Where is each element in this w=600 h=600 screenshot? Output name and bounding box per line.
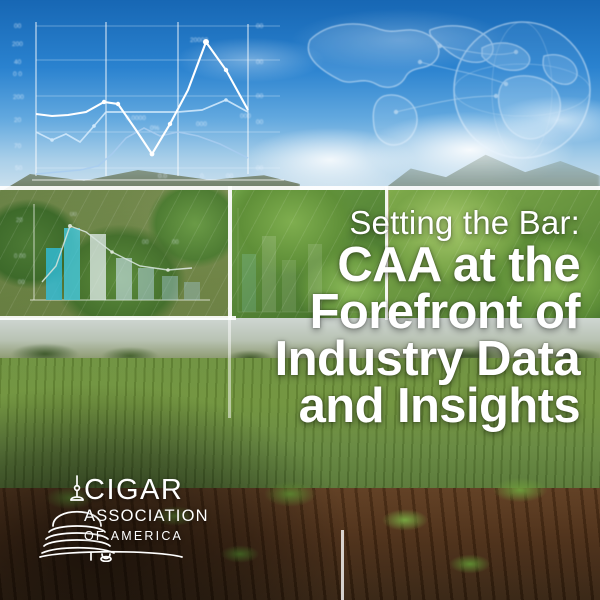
svg-text:20: 20: [14, 117, 22, 124]
cigar-association-of-america-logo[interactable]: CIGAR ASSOCIATION OF AMERICA: [36, 474, 216, 562]
svg-text:200: 200: [13, 94, 24, 101]
headline-line-4: and Insights: [160, 382, 580, 431]
svg-text:000: 000: [196, 121, 207, 128]
svg-text:00: 00: [256, 59, 264, 66]
headline-line-2: Forefront of: [160, 288, 580, 337]
logo-wordmark: CIGAR ASSOCIATION OF AMERICA: [84, 476, 224, 546]
svg-text:200: 200: [12, 41, 23, 48]
svg-text:00: 00: [256, 93, 264, 100]
logo-line-of-america: OF AMERICA: [84, 527, 224, 546]
svg-text:00: 00: [14, 23, 22, 30]
svg-text:0 00: 0 00: [14, 254, 26, 260]
svg-text:70: 70: [14, 143, 22, 150]
divider-vertical-bottom-right: [341, 530, 344, 600]
world-map-globe-graphic: [300, 0, 600, 190]
svg-text:0.0: 0.0: [158, 173, 167, 180]
svg-text:000: 000: [240, 113, 251, 120]
svg-text:00: 00: [256, 23, 264, 30]
svg-text:0 0: 0 0: [13, 71, 22, 78]
svg-text:0.: 0.: [200, 173, 206, 180]
svg-text:00: 00: [226, 173, 234, 180]
svg-text:00: 00: [142, 240, 149, 246]
headline-line-1: CAA at the: [160, 241, 580, 290]
promo-graphic-canvas: 00200 400 0 20020 7050 0000 0000 00 0.00…: [0, 0, 600, 600]
svg-text:00: 00: [18, 280, 25, 286]
svg-text:50: 50: [15, 165, 23, 172]
svg-text:00: 00: [256, 165, 264, 172]
svg-text:20: 20: [16, 218, 23, 224]
svg-text:40: 40: [14, 59, 22, 66]
headline-line-3: Industry Data: [160, 335, 580, 384]
headline-block: Setting the Bar: CAA at the Forefront of…: [160, 206, 580, 431]
headline-eyebrow: Setting the Bar:: [160, 206, 580, 239]
divider-top-horizontal: [0, 186, 600, 190]
logo-line-association: ASSOCIATION: [84, 505, 224, 527]
svg-text:00: 00: [256, 119, 264, 126]
line-chart-overlay: 00200 400 0 20020 7050 0000 0000 00 0.00…: [8, 8, 288, 188]
svg-text:00: 00: [70, 212, 77, 218]
logo-line-cigar: CIGAR: [84, 476, 224, 505]
